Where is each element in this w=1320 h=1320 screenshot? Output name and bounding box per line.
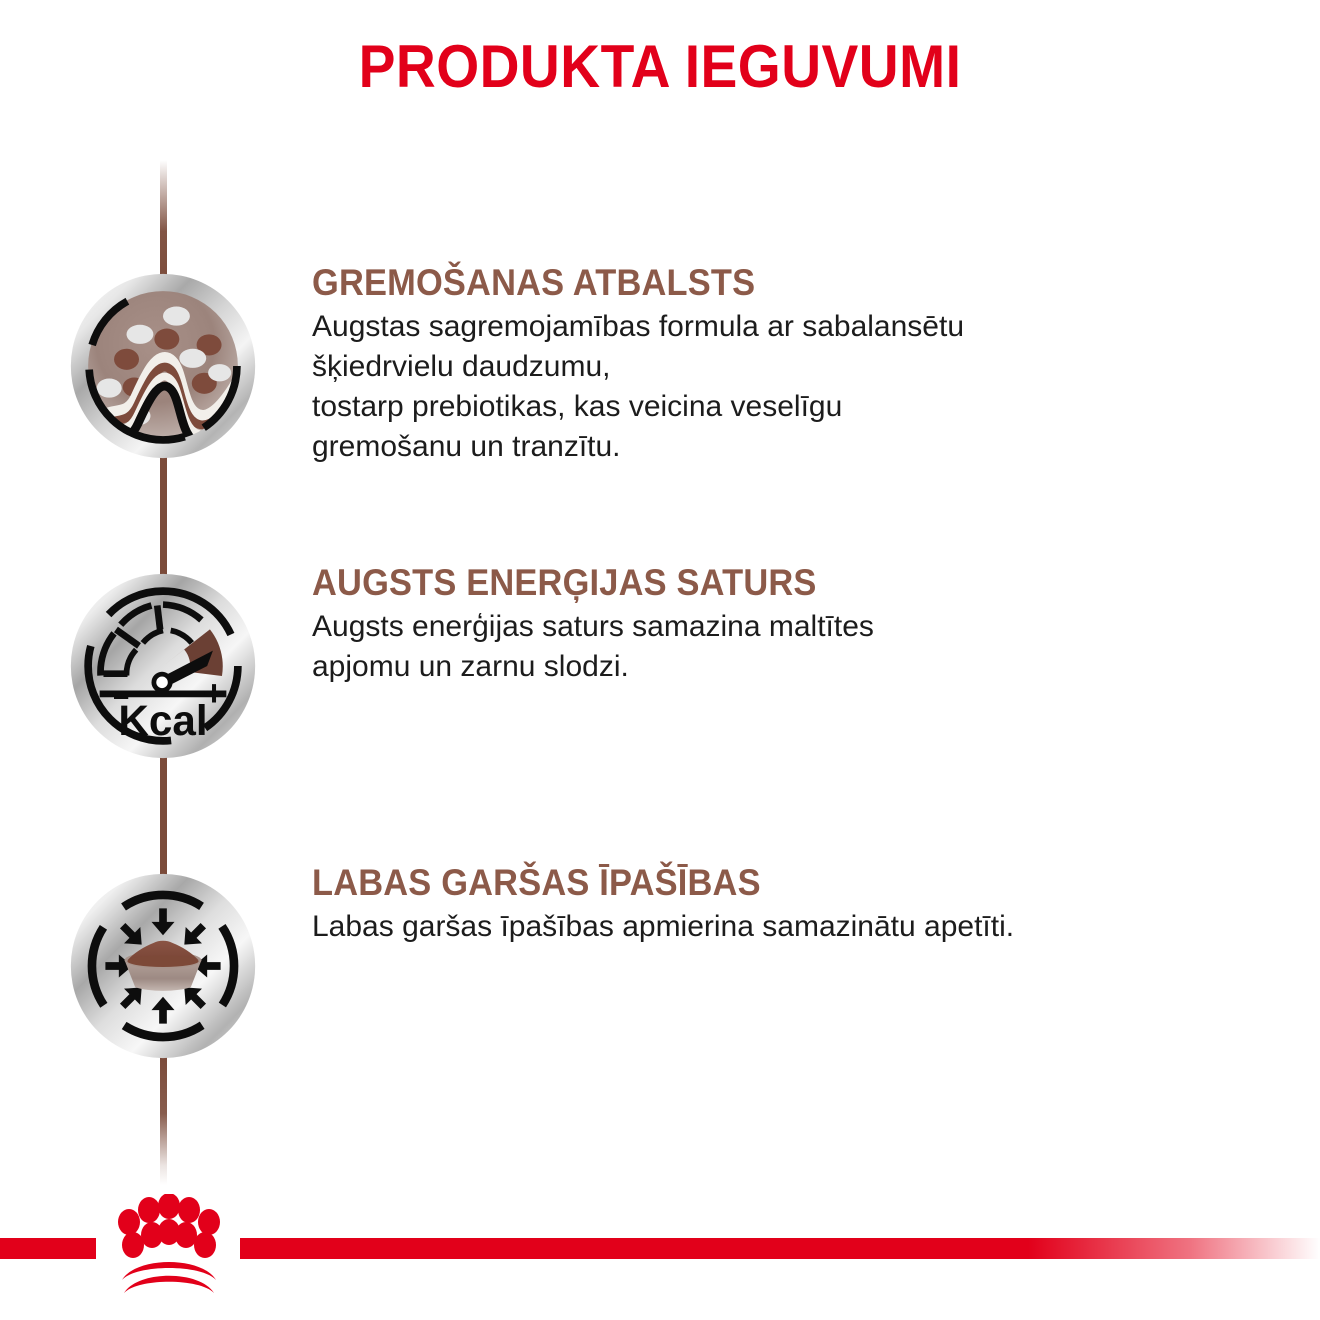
benefit-text-high-energy: AUGSTS ENERĢIJAS SATURS Augsts enerģijas… xyxy=(312,562,1272,687)
kcal-gauge-icon: – + Kcal xyxy=(67,570,259,762)
crown-logo-graphic xyxy=(96,1194,242,1298)
product-benefits-page: PRODUKTA IEGUVUMI xyxy=(0,0,1320,1320)
benefit-text-palatability: LABAS GARŠAS ĪPAŠĪBAS Labas garšas īpašī… xyxy=(312,862,1272,947)
footer-bar-left xyxy=(0,1238,96,1259)
connector-line-segment-bottom xyxy=(160,1055,167,1185)
connector-line-segment-2 xyxy=(160,755,167,880)
benefit-heading: GREMOŠANAS ATBALSTS xyxy=(312,262,1205,303)
benefit-heading: AUGSTS ENERĢIJAS SATURS xyxy=(312,562,1205,603)
palatability-bowl-icon-graphic xyxy=(67,870,259,1062)
palatability-bowl-icon xyxy=(67,870,259,1062)
gauge-kcal-label: Kcal xyxy=(118,697,207,744)
benefit-body: Augsts enerģijas saturs samazina maltīte… xyxy=(312,607,1272,687)
page-title: PRODUKTA IEGUVUMI xyxy=(53,32,1267,101)
benefit-body: Labas garšas īpašības apmierina samazinā… xyxy=(312,907,1272,947)
royal-canin-crown-logo xyxy=(96,1194,242,1298)
digestive-wave-icon xyxy=(67,270,259,462)
benefit-heading: LABAS GARŠAS ĪPAŠĪBAS xyxy=(312,862,1205,903)
kcal-gauge-icon-graphic: – + Kcal xyxy=(67,570,259,762)
footer xyxy=(0,1180,1320,1320)
digestive-wave-icon-graphic xyxy=(67,270,259,462)
footer-bar-right xyxy=(240,1238,1320,1259)
benefit-text-digestive-support: GREMOŠANAS ATBALSTS Augstas sagremojamīb… xyxy=(312,262,1272,467)
connector-line-segment-1 xyxy=(160,455,167,580)
benefit-body: Augstas sagremojamības formula ar sabala… xyxy=(312,307,1272,467)
